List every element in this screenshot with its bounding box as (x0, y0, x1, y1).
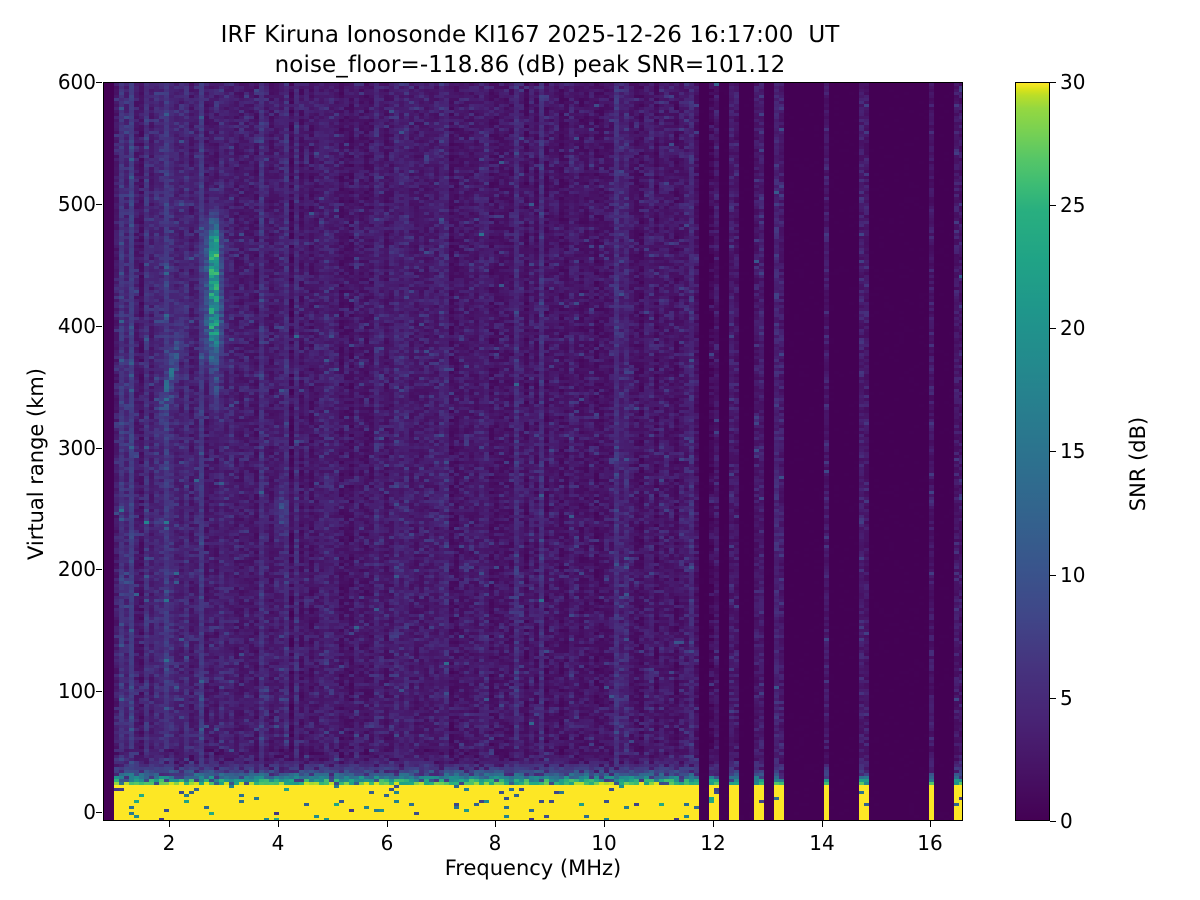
ytick-label-300: 300 (58, 436, 96, 460)
ytick-label-400: 400 (58, 314, 96, 338)
cbar-tick-15 (1050, 451, 1056, 452)
cbar-label-0: 0 (1060, 809, 1073, 833)
cbar-label-15: 15 (1060, 439, 1085, 463)
x-axis-label: Frequency (MHz) (103, 856, 963, 880)
ytick-100 (96, 691, 102, 692)
cbar-tick-30 (1050, 82, 1056, 83)
y-axis-label: Virtual range (km) (24, 364, 48, 564)
xtick-8 (495, 821, 496, 827)
xtick-label-10: 10 (591, 831, 616, 855)
title-line-2: noise_floor=-118.86 (dB) peak SNR=101.12 (0, 50, 1060, 80)
snr-colorbar (1015, 82, 1050, 821)
xtick-4 (278, 821, 279, 827)
xtick-label-12: 12 (700, 831, 725, 855)
xtick-label-4: 4 (272, 831, 285, 855)
cbar-label-30: 30 (1060, 70, 1085, 94)
ytick-500 (96, 204, 102, 205)
cbar-tick-25 (1050, 205, 1056, 206)
title-line-1: IRF Kiruna Ionosonde KI167 2025-12-26 16… (0, 20, 1060, 50)
ytick-label-100: 100 (58, 679, 96, 703)
xtick-14 (822, 821, 823, 827)
ionogram-heatmap-canvas (104, 83, 963, 821)
ytick-0 (96, 812, 102, 813)
cbar-tick-10 (1050, 575, 1056, 576)
xtick-label-2: 2 (163, 831, 176, 855)
xtick-label-8: 8 (489, 831, 502, 855)
xtick-12 (713, 821, 714, 827)
ytick-label-200: 200 (58, 557, 96, 581)
ytick-label-500: 500 (58, 192, 96, 216)
ionogram-figure: IRF Kiruna Ionosonde KI167 2025-12-26 16… (0, 0, 1200, 900)
xtick-label-14: 14 (809, 831, 834, 855)
xtick-2 (169, 821, 170, 827)
ytick-400 (96, 326, 102, 327)
ytick-300 (96, 448, 102, 449)
ytick-600 (96, 82, 102, 83)
cbar-label-10: 10 (1060, 563, 1085, 587)
cbar-tick-0 (1050, 821, 1056, 822)
cbar-label-25: 25 (1060, 193, 1085, 217)
xtick-label-6: 6 (381, 831, 394, 855)
ytick-label-0: 0 (83, 800, 96, 824)
xtick-16 (930, 821, 931, 827)
cbar-label-20: 20 (1060, 316, 1085, 340)
cbar-tick-5 (1050, 698, 1056, 699)
ytick-label-600: 600 (58, 70, 96, 94)
xtick-label-16: 16 (917, 831, 942, 855)
ionogram-plot-area (103, 82, 963, 821)
ytick-200 (96, 569, 102, 570)
colorbar-label: SNR (dB) (1126, 354, 1150, 574)
cbar-tick-20 (1050, 328, 1056, 329)
xtick-6 (387, 821, 388, 827)
cbar-label-5: 5 (1060, 686, 1073, 710)
xtick-10 (604, 821, 605, 827)
figure-title: IRF Kiruna Ionosonde KI167 2025-12-26 16… (0, 20, 1060, 81)
